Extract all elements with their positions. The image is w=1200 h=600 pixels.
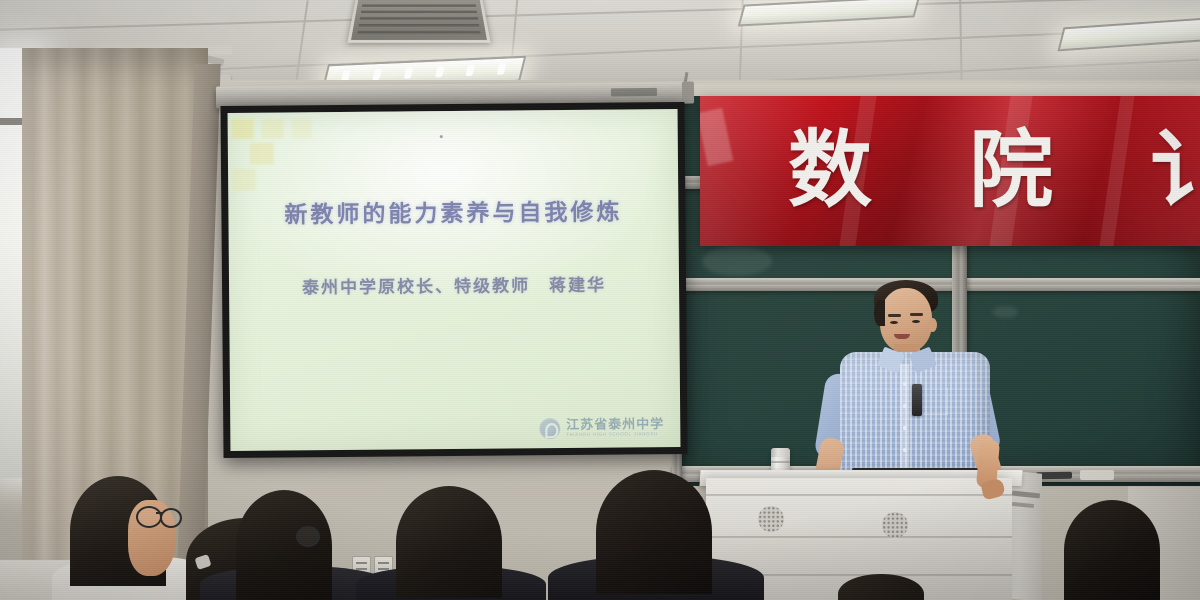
ceiling-light-fixture [738, 0, 921, 27]
ceiling-light-fixture [1057, 17, 1200, 52]
speaker-eye [890, 321, 898, 324]
speaker-eyebrow [888, 314, 901, 317]
podium-speaker-grille [882, 512, 908, 538]
slide-subtitle: 泰州中学原校长、特级教师 蒋建华 [229, 270, 679, 299]
audience-member-head [396, 486, 502, 598]
screen-brand-logo-icon [611, 88, 657, 96]
audience-member-head [1064, 500, 1160, 600]
speaker-eyebrow [910, 313, 923, 316]
lecture-hall-photo: 数 院 讠 新教师的能力素养与自我修炼 泰州中学原校长、特级教师 蒋建华 江苏省… [0, 0, 1200, 600]
ac-vent-icon [347, 0, 490, 43]
speaker-eye [912, 320, 920, 323]
slide-bullet-dot [439, 135, 442, 138]
audience-member-head [236, 490, 332, 600]
speaker-hair-side [874, 300, 885, 326]
podium-speaker-grille [758, 506, 784, 532]
thermos-cap [771, 448, 790, 457]
red-banner: 数 院 讠 [700, 96, 1200, 246]
eyeglasses-icon [160, 508, 182, 528]
school-logo-name-en: TAIZHOU HIGH SCHOOL JIANGSU [566, 432, 664, 438]
speaker-ear [928, 318, 937, 332]
school-logo: 江苏省泰州中学 TAIZHOU HIGH SCHOOL JIANGSU [539, 417, 664, 439]
eyeglasses-icon [136, 506, 162, 528]
eyeglasses-icon [296, 526, 320, 547]
banner-text: 数 院 讠 [700, 110, 1200, 230]
microphone-transmitter-icon [912, 384, 922, 416]
speaker-mouth [894, 334, 910, 339]
thermos-band [771, 461, 790, 463]
screen-housing-end-cap [682, 81, 694, 103]
projected-slide: 新教师的能力素养与自我修炼 泰州中学原校长、特级教师 蒋建华 江苏省泰州中学 T… [228, 109, 681, 451]
blackboard-eraser [1080, 470, 1114, 480]
slide-title: 新教师的能力素养与自我修炼 [228, 192, 678, 230]
school-logo-mark-icon [539, 418, 560, 439]
audience-member-head [596, 470, 712, 594]
speaker-head [880, 288, 932, 352]
projection-screen: 新教师的能力素养与自我修炼 泰州中学原校长、特级教师 蒋建华 江苏省泰州中学 T… [220, 102, 687, 458]
speaker-shirt-placket [900, 364, 909, 476]
